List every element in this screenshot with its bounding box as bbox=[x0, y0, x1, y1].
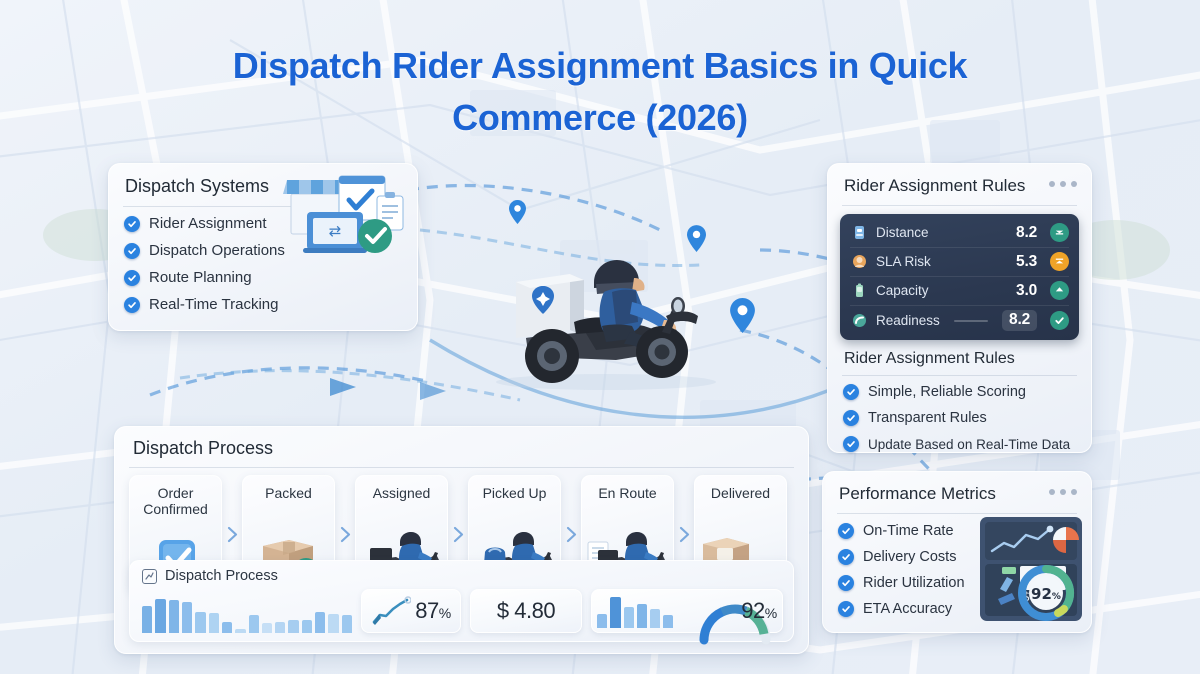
readiness-slider[interactable] bbox=[954, 320, 988, 322]
list-item-label: Real-Time Tracking bbox=[149, 296, 278, 313]
page-title-line1: Dispatch Rider Assignment Basics in Quic… bbox=[233, 45, 968, 86]
metric-tile-on-time-rate[interactable]: 87% bbox=[361, 589, 461, 633]
hist-bar bbox=[209, 613, 219, 633]
list-item[interactable]: Simple, Reliable Scoring bbox=[843, 384, 1077, 400]
score-panel: Distance 8.2 SLA Risk 5.3 Capacity 3.0 bbox=[840, 214, 1079, 340]
check-circle-icon bbox=[838, 523, 854, 539]
metric-tile-delivery-cost[interactable]: $ 4.80 bbox=[470, 589, 582, 633]
list-item-label: Delivery Costs bbox=[863, 549, 956, 565]
stage-label: Assigned bbox=[356, 476, 447, 501]
rider-assignment-rules-card: Rider Assignment Rules Distance 8.2 SLA … bbox=[827, 163, 1092, 453]
check-circle-icon bbox=[124, 297, 140, 313]
more-dots-icon[interactable] bbox=[1049, 181, 1077, 187]
hist-bar bbox=[155, 599, 165, 633]
list-item[interactable]: Real-Time Tracking bbox=[124, 296, 403, 313]
list-item-label: ETA Accuracy bbox=[863, 601, 952, 617]
hist-bar bbox=[328, 614, 338, 633]
storefront-dashboard-icon: ⇄ bbox=[281, 172, 411, 280]
dot bbox=[1071, 181, 1077, 187]
dispatch-process-strip: Dispatch Process 87% $ 4.80 bbox=[129, 560, 794, 642]
strip-body: 87% $ 4.80 92% bbox=[142, 589, 783, 633]
score-row-readiness[interactable]: Readiness 8.2 bbox=[840, 305, 1079, 336]
check-circle-icon bbox=[124, 270, 140, 286]
check-circle-icon bbox=[124, 216, 140, 232]
map-pin-icon bbox=[509, 200, 526, 224]
hist-bar bbox=[610, 597, 620, 628]
page-title: Dispatch Rider Assignment Basics in Quic… bbox=[0, 40, 1200, 144]
score-row-sla-risk[interactable]: SLA Risk 5.3 bbox=[840, 247, 1079, 276]
hist-bar bbox=[624, 607, 634, 628]
hist-bar bbox=[275, 622, 285, 633]
hist-bar bbox=[597, 614, 607, 628]
stage-label: En Route bbox=[582, 476, 673, 501]
hist-bar bbox=[222, 622, 232, 633]
check-circle-icon bbox=[838, 601, 854, 617]
stage-label: Delivered bbox=[695, 476, 786, 501]
metric-value: $ 4.80 bbox=[497, 598, 555, 624]
trend-down-icon bbox=[1050, 223, 1069, 242]
performance-metrics-card: Performance Metrics On-Time Rate Deliver… bbox=[822, 471, 1092, 633]
rider-assignment-rules-subtitle: Rider Assignment Rules bbox=[828, 340, 1091, 375]
delivery-rider-illustration bbox=[466, 226, 734, 396]
score-row-capacity[interactable]: Capacity 3.0 bbox=[840, 276, 1079, 305]
dot bbox=[1071, 489, 1077, 495]
check-circle-icon bbox=[843, 436, 859, 452]
bar-gauge-icon bbox=[597, 594, 673, 628]
rider-assignment-rules-list: Simple, Reliable Scoring Transparent Rul… bbox=[828, 376, 1091, 462]
hist-bar bbox=[342, 615, 352, 633]
hist-bar bbox=[302, 620, 312, 633]
score-value: 8.2 bbox=[1016, 224, 1037, 242]
check-circle-icon bbox=[838, 549, 854, 565]
svg-text:⇄: ⇄ bbox=[329, 222, 342, 240]
hist-bar bbox=[195, 612, 205, 633]
score-value: 5.3 bbox=[1016, 253, 1037, 271]
check-circle-icon bbox=[124, 243, 140, 259]
metric-tile-rider-gauge[interactable]: 92% bbox=[591, 589, 783, 633]
hist-bar bbox=[169, 600, 179, 633]
dispatch-process-card: Dispatch Process Order Confirmed Packed bbox=[114, 426, 809, 654]
score-value: 3.0 bbox=[1016, 282, 1037, 300]
distance-marker-icon bbox=[851, 224, 868, 241]
battery-capacity-icon bbox=[851, 282, 868, 299]
list-item-label: On-Time Rate bbox=[863, 523, 954, 539]
dot bbox=[1049, 489, 1055, 495]
list-item-label: Rider Assignment bbox=[149, 215, 267, 232]
list-item[interactable]: Transparent Rules bbox=[843, 410, 1077, 426]
list-item-label: Route Planning bbox=[149, 269, 252, 286]
dot bbox=[1060, 181, 1066, 187]
dot bbox=[1049, 181, 1055, 187]
divider bbox=[129, 467, 794, 468]
check-circle-icon bbox=[843, 410, 859, 426]
dispatch-histogram bbox=[142, 589, 352, 633]
risk-alert-icon bbox=[851, 253, 868, 270]
list-item[interactable]: Update Based on Real-Time Data bbox=[843, 436, 1077, 452]
score-label: Distance bbox=[876, 225, 1008, 240]
score-label: Readiness bbox=[876, 313, 940, 328]
list-item-label: Transparent Rules bbox=[868, 410, 987, 426]
analytics-dashboard-icon: $ 92% bbox=[980, 517, 1082, 621]
hist-bar bbox=[315, 612, 325, 633]
hist-bar bbox=[249, 615, 259, 633]
list-item-label: Simple, Reliable Scoring bbox=[868, 384, 1026, 400]
arrow-up-icon bbox=[1050, 281, 1069, 300]
hist-bar bbox=[650, 609, 660, 628]
check-circle-icon bbox=[843, 384, 859, 400]
metric-value: 92% bbox=[741, 598, 776, 624]
hist-bar bbox=[637, 604, 647, 628]
hist-bar bbox=[142, 606, 152, 633]
dot bbox=[1060, 489, 1066, 495]
page-title-line2: Commerce (2026) bbox=[0, 92, 1200, 144]
score-value: 8.2 bbox=[1002, 310, 1037, 331]
list-item-label: Dispatch Operations bbox=[149, 242, 285, 259]
score-label: Capacity bbox=[876, 283, 1008, 298]
list-item-label: Rider Utilization bbox=[863, 575, 965, 591]
hist-bar bbox=[262, 623, 272, 633]
metric-value: 87% bbox=[415, 598, 450, 624]
strip-title: Dispatch Process bbox=[165, 568, 278, 584]
hist-bar bbox=[663, 615, 673, 628]
hist-bar bbox=[235, 629, 245, 633]
gauge-value: 92 bbox=[1031, 585, 1052, 603]
list-item-label: Update Based on Real-Time Data bbox=[868, 437, 1070, 452]
check-circle-icon bbox=[838, 575, 854, 591]
stage-label: Order Confirmed bbox=[130, 476, 221, 517]
hist-bar bbox=[288, 620, 298, 633]
chart-frame-icon bbox=[142, 569, 157, 584]
dispatch-systems-card: Dispatch Systems ⇄ bbox=[108, 163, 418, 331]
more-dots-icon[interactable] bbox=[1049, 489, 1077, 495]
dispatch-process-title: Dispatch Process bbox=[115, 427, 808, 467]
hist-bar bbox=[182, 602, 192, 633]
trend-up-icon bbox=[1050, 252, 1069, 271]
stage-label: Picked Up bbox=[469, 476, 560, 501]
strip-header: Dispatch Process bbox=[130, 561, 793, 584]
gauge-unit: % bbox=[1052, 592, 1061, 602]
divider bbox=[842, 205, 1077, 206]
check-badge-icon bbox=[1050, 311, 1069, 330]
score-row-distance[interactable]: Distance 8.2 bbox=[840, 218, 1079, 247]
line-chart-icon bbox=[371, 596, 411, 626]
speedometer-icon bbox=[851, 312, 868, 329]
stage-label: Packed bbox=[243, 476, 334, 501]
score-label: SLA Risk bbox=[876, 254, 1008, 269]
